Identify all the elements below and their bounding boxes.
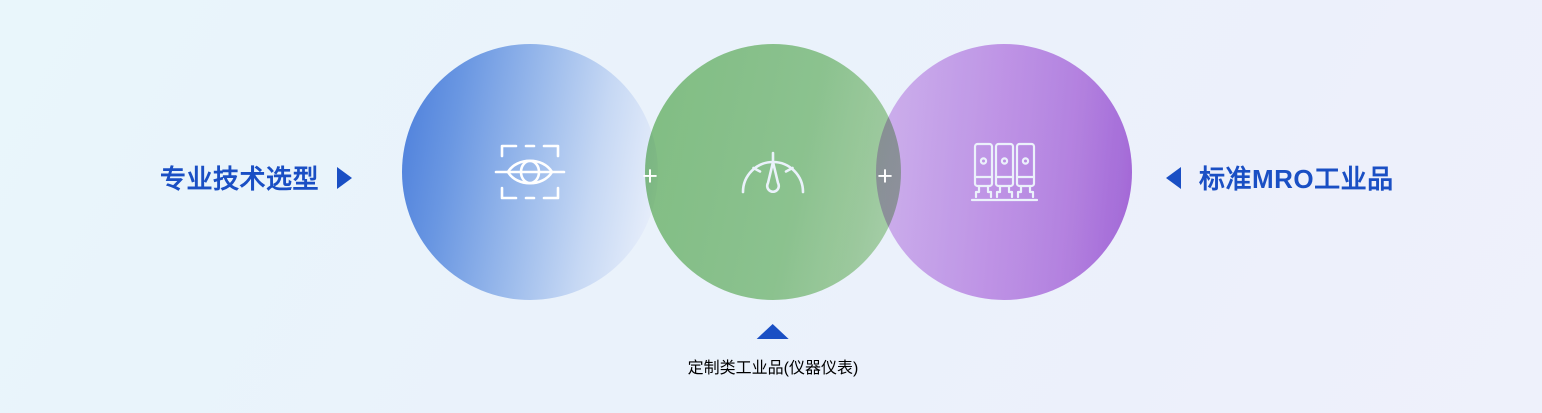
eye-scan-icon <box>488 130 572 214</box>
label-bottom-text: 定制类工业品(仪器仪表) <box>688 354 859 378</box>
circle-green-custom-instruments[interactable] <box>645 44 901 300</box>
label-right-standard-mro: 标准MRO工业品 <box>1166 159 1394 196</box>
circle-purple-standard-mro[interactable] <box>876 44 1132 300</box>
plus-icon-left: + <box>637 163 663 189</box>
cabinet-racks-icon <box>962 130 1046 214</box>
label-right-text: 标准MRO工业品 <box>1199 159 1394 196</box>
triangle-left-icon <box>1166 167 1181 189</box>
plus-icon-right: + <box>872 163 898 189</box>
venn-banner: 专业技术选型 + <box>0 0 1542 413</box>
circle-blue-technical-selection[interactable] <box>402 44 658 300</box>
gauge-meter-icon <box>731 130 815 214</box>
label-left-text: 专业技术选型 <box>160 159 319 196</box>
triangle-right-icon <box>337 167 352 189</box>
triangle-up-icon <box>757 324 789 339</box>
label-left-professional-selection: 专业技术选型 <box>160 159 352 196</box>
label-bottom-custom-instruments: 定制类工业品(仪器仪表) <box>688 324 859 378</box>
